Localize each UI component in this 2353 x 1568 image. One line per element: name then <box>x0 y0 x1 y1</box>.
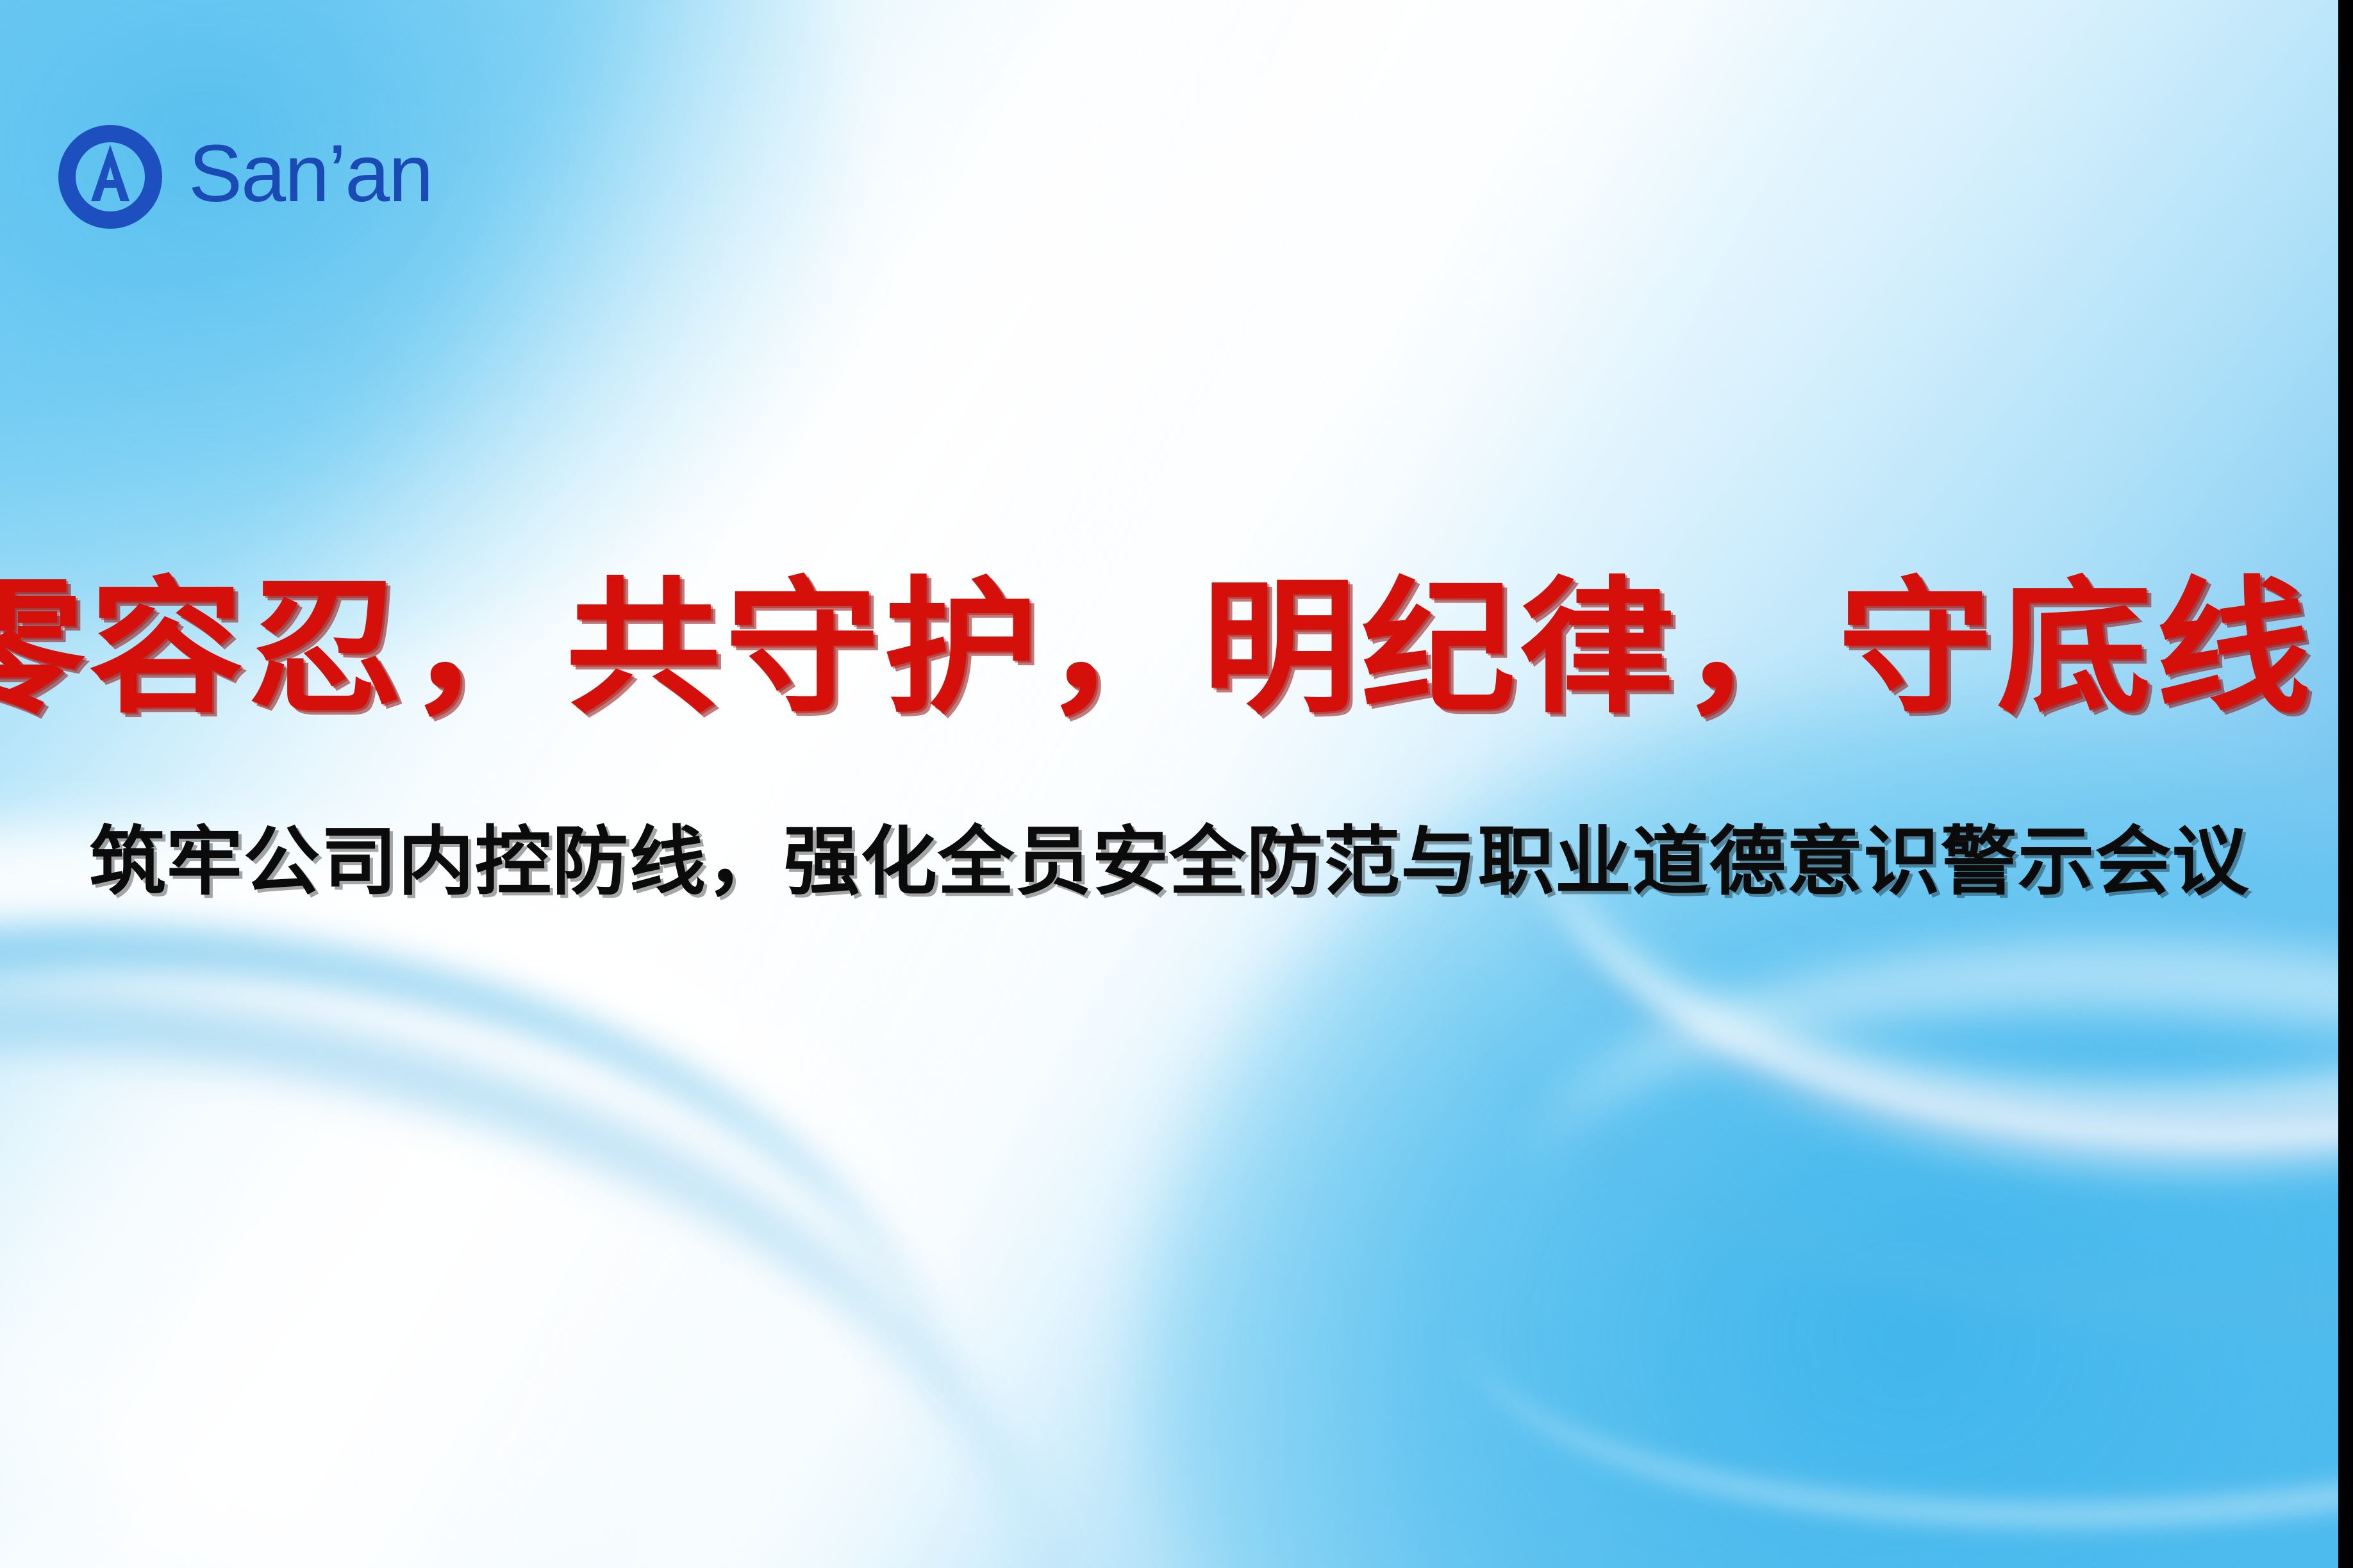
banner-slide: San’an 零容忍，共守护，明纪律，守底线！ 筑牢公司内控防线，强化全员安全防… <box>0 0 2353 1568</box>
brand-logo: San’an <box>54 120 432 233</box>
banner-subtitle: 筑牢公司内控防线，强化全员安全防范与职业道德意识警示会议 <box>0 817 2353 907</box>
sanan-circle-a-logo-icon <box>54 120 167 233</box>
right-edge-bar <box>2338 0 2353 1568</box>
banner-headline: 零容忍，共守护，明纪律，守底线！ <box>0 567 2353 730</box>
brand-wordmark: San’an <box>188 133 432 220</box>
